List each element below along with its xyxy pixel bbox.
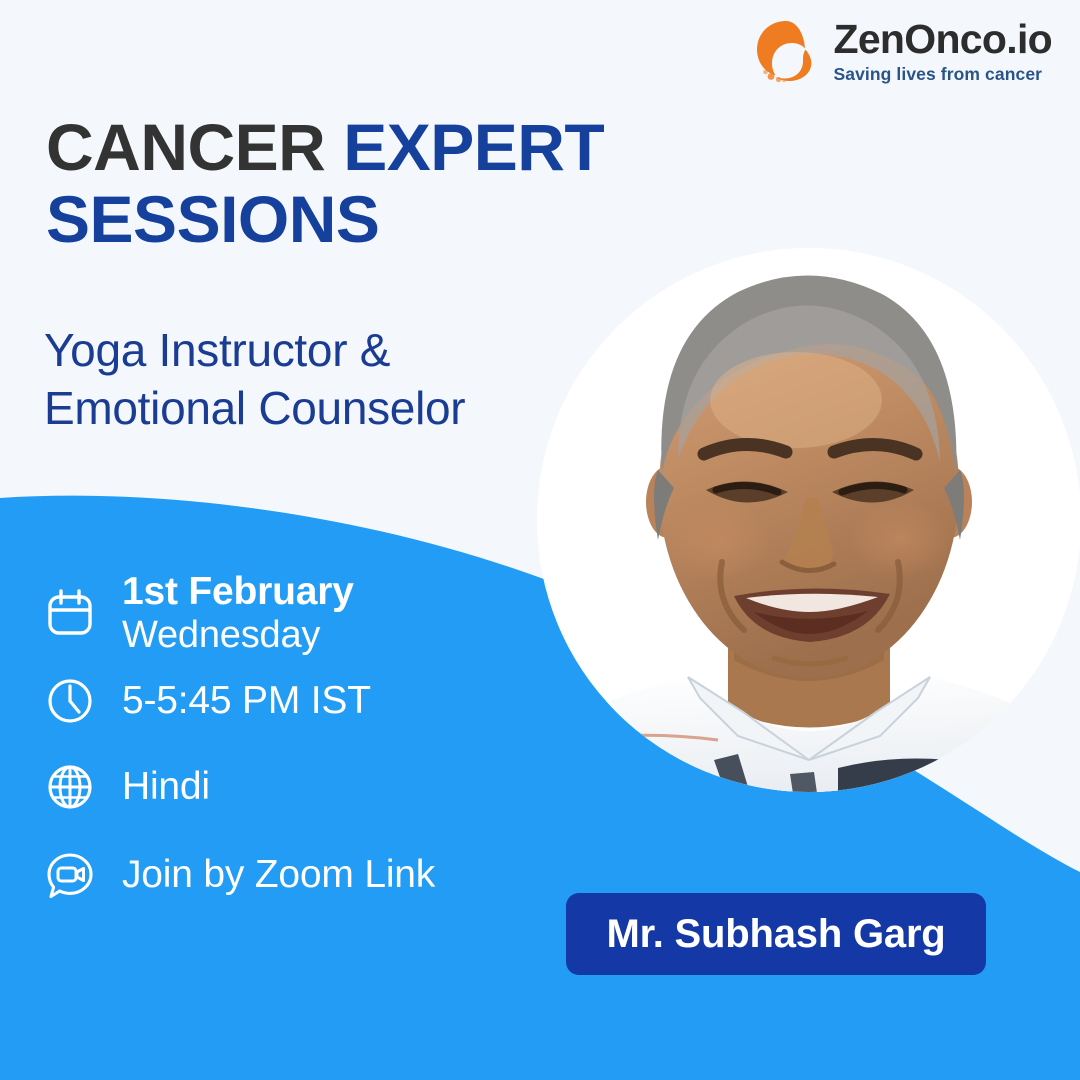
enso-brush-circle-icon bbox=[753, 18, 819, 84]
subtitle-line-2: Emotional Counselor bbox=[44, 382, 465, 434]
brand-logo: ZenOnco.io Saving lives from cancer bbox=[753, 18, 1052, 84]
detail-text-time: 5-5:45 PM IST bbox=[122, 681, 371, 721]
detail-text-join: Join by Zoom Link bbox=[122, 855, 435, 895]
detail-row-time: 5-5:45 PM IST bbox=[44, 675, 564, 727]
event-time: 5-5:45 PM IST bbox=[122, 681, 371, 721]
detail-text-language: Hindi bbox=[122, 767, 210, 807]
speaker-portrait-illustration bbox=[538, 240, 1080, 800]
clock-icon bbox=[44, 675, 96, 727]
globe-icon bbox=[44, 761, 96, 813]
page-subtitle: Yoga Instructor & Emotional Counselor bbox=[44, 322, 604, 437]
event-language: Hindi bbox=[122, 767, 210, 807]
headline-word-cancer: CANCER bbox=[46, 110, 325, 184]
poster-canvas: ZenOnco.io Saving lives from cancer CANC… bbox=[0, 0, 1080, 1080]
detail-row-language: Hindi bbox=[44, 761, 564, 813]
calendar-icon bbox=[44, 587, 96, 639]
join-link-label[interactable]: Join by Zoom Link bbox=[122, 855, 435, 895]
detail-text-date: 1st February Wednesday bbox=[122, 572, 354, 655]
page-title: CANCER EXPERT SESSIONS bbox=[46, 112, 696, 256]
subtitle-line-1: Yoga Instructor & bbox=[44, 324, 390, 376]
detail-row-date: 1st February Wednesday bbox=[44, 572, 564, 655]
speaker-name: Mr. Subhash Garg bbox=[606, 912, 945, 957]
brand-name: ZenOnco.io bbox=[833, 19, 1052, 60]
event-weekday: Wednesday bbox=[122, 616, 354, 655]
detail-row-join[interactable]: Join by Zoom Link bbox=[44, 849, 564, 901]
event-details-list: 1st February Wednesday 5-5:45 PM IST bbox=[44, 572, 564, 901]
headline-word-sessions: SESSIONS bbox=[46, 182, 379, 256]
headline-word-expert: EXPERT bbox=[343, 110, 604, 184]
event-date: 1st February bbox=[122, 572, 354, 612]
speaker-name-badge: Mr. Subhash Garg bbox=[566, 893, 986, 975]
brand-tagline: Saving lives from cancer bbox=[833, 66, 1042, 84]
speaker-photo bbox=[538, 240, 1080, 800]
video-chat-icon bbox=[44, 849, 96, 901]
